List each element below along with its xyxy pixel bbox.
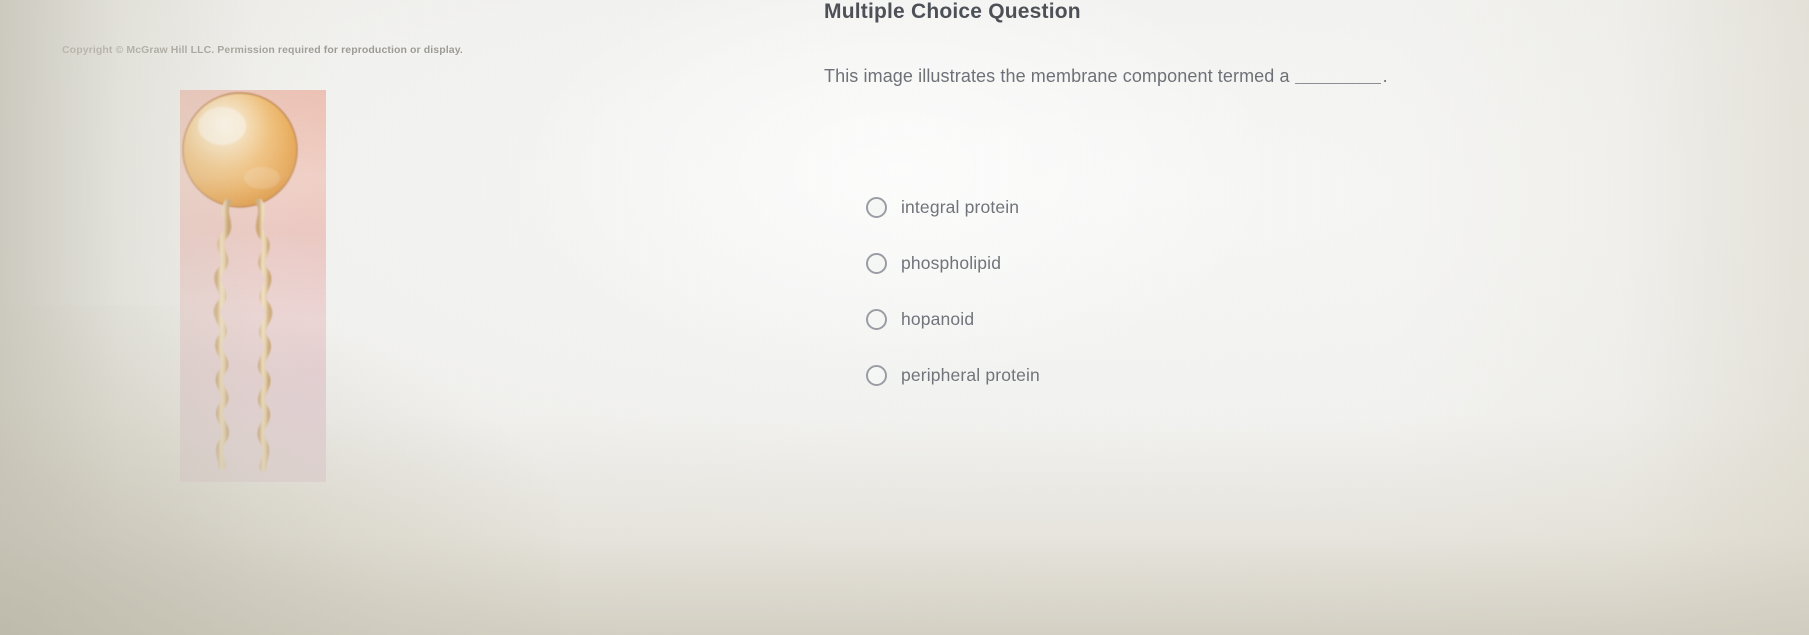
option-phospholipid[interactable]: phospholipid [866, 249, 1286, 277]
copyright-notice: Copyright © McGraw Hill LLC. Permission … [62, 44, 532, 56]
question-stem: This image illustrates the membrane comp… [824, 66, 1724, 87]
answer-blank [1295, 83, 1381, 84]
figure-block: Copyright © McGraw Hill LLC. Permission … [62, 44, 532, 56]
option-hopanoid[interactable]: hopanoid [866, 305, 1286, 333]
radio-button-icon[interactable] [866, 197, 887, 218]
option-label: peripheral protein [901, 365, 1040, 386]
option-integral-protein[interactable]: integral protein [866, 193, 1286, 221]
head-group-sphere [183, 93, 297, 207]
option-peripheral-protein[interactable]: peripheral protein [866, 361, 1286, 389]
fatty-acid-tails [217, 202, 269, 468]
page-title: Multiple Choice Question [824, 0, 1724, 24]
phospholipid-illustration [180, 90, 326, 482]
question-stem-period: . [1383, 66, 1388, 86]
option-label: phospholipid [901, 253, 1001, 274]
answer-options-list: integral protein phospholipid hopanoid p… [866, 193, 1724, 389]
phospholipid-diagram-icon [164, 82, 344, 492]
radio-button-icon[interactable] [866, 253, 887, 274]
screenshot-root: Copyright © McGraw Hill LLC. Permission … [0, 0, 1809, 635]
question-stem-text: This image illustrates the membrane comp… [824, 66, 1290, 86]
radio-button-icon[interactable] [866, 309, 887, 330]
option-label: integral protein [901, 197, 1019, 218]
option-label: hopanoid [901, 309, 974, 330]
question-column: Multiple Choice Question This image illu… [824, 0, 1724, 417]
radio-button-icon[interactable] [866, 365, 887, 386]
